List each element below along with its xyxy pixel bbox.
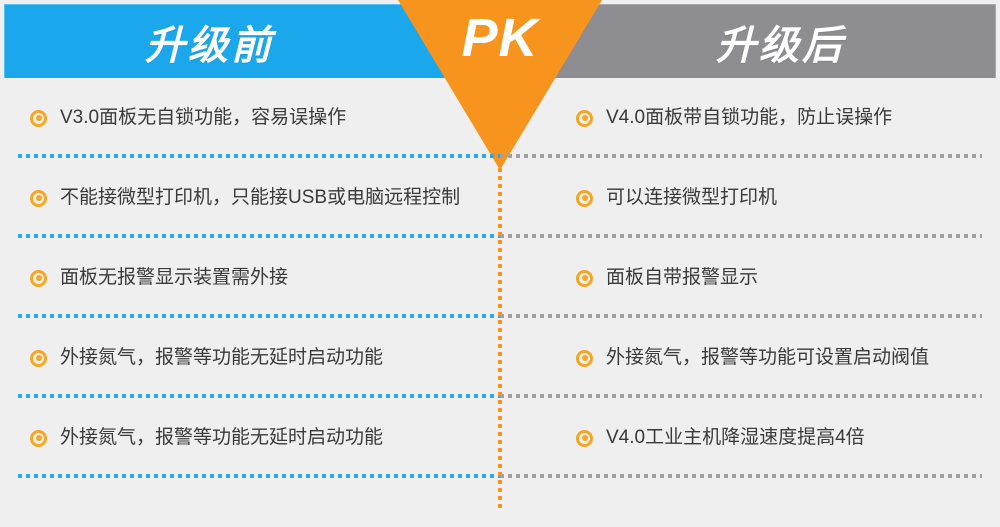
row-4-after-cell: 外接氮气，报警等功能可设置启动阀值 [500, 318, 1000, 398]
header-before-upgrade-title: 升级前 [145, 13, 274, 71]
row-5-left-divider [18, 474, 502, 478]
row-2-after-text: 可以连接微型打印机 [606, 186, 777, 210]
row-4-before-text: 外接氮气，报警等功能无延时启动功能 [60, 346, 383, 370]
row-4-after-text: 外接氮气，报警等功能可设置启动阀值 [606, 346, 929, 370]
row-5-before-text: 外接氮气，报警等功能无延时启动功能 [60, 426, 383, 450]
bullet-point-icon [576, 190, 593, 207]
row-5-after-text: V4.0工业主机降湿速度提高4倍 [606, 426, 865, 450]
row-1-before-cell: V3.0面板无自锁功能，容易误操作 [0, 78, 500, 158]
row-3-before-text: 面板无报警显示装置需外接 [60, 266, 288, 290]
bullet-point-icon [576, 430, 593, 447]
row-5-before-cell: 外接氮气，报警等功能无延时启动功能 [0, 398, 500, 478]
row-3-after-text: 面板自带报警显示 [606, 266, 758, 290]
bullet-point-icon [30, 110, 47, 127]
row-3-after-cell: 面板自带报警显示 [500, 238, 1000, 318]
row-1-after-cell: V4.0面板带自锁功能，防止误操作 [500, 78, 1000, 158]
row-3-before-cell: 面板无报警显示装置需外接 [0, 238, 500, 318]
row-2-after-cell: 可以连接微型打印机 [500, 158, 1000, 238]
header-after-upgrade: 升级后 [500, 4, 996, 78]
row-2-before-text: 不能接微型打印机，只能接USB或电脑远程控制 [60, 186, 460, 210]
bullet-point-icon [576, 110, 593, 127]
header-after-upgrade-title: 升级后 [716, 13, 845, 71]
comparison-infographic: 升级前 升级后 PK V3.0面板无自锁功能，容易误操作 V4.0面板带自锁功能… [0, 0, 1000, 527]
bullet-point-icon [30, 190, 47, 207]
center-vertical-divider [498, 168, 502, 512]
bullet-point-icon [30, 270, 47, 287]
table-row: V3.0面板无自锁功能，容易误操作 V4.0面板带自锁功能，防止误操作 [0, 78, 1000, 158]
header-before-upgrade: 升级前 [4, 4, 500, 78]
bullet-point-icon [30, 350, 47, 367]
row-1-before-text: V3.0面板无自锁功能，容易误操作 [60, 106, 346, 130]
row-1-after-text: V4.0面板带自锁功能，防止误操作 [606, 106, 892, 130]
bullet-point-icon [576, 350, 593, 367]
row-2-before-cell: 不能接微型打印机，只能接USB或电脑远程控制 [0, 158, 500, 238]
bullet-point-icon [576, 270, 593, 287]
row-4-before-cell: 外接氮气，报警等功能无延时启动功能 [0, 318, 500, 398]
row-5-right-divider [500, 474, 982, 478]
row-5-after-cell: V4.0工业主机降湿速度提高4倍 [500, 398, 1000, 478]
bullet-point-icon [30, 430, 47, 447]
